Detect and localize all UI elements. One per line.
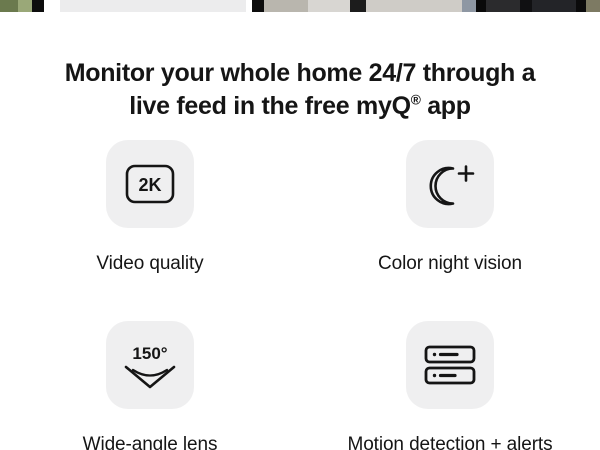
notification-bars-icon <box>423 343 477 387</box>
black-divider-4 <box>476 0 486 12</box>
dark-divider-3 <box>350 0 366 12</box>
white-gap <box>44 0 60 12</box>
feature-motion-detection-alerts: Motion detection + alerts <box>300 321 600 450</box>
dark-interior-photo <box>532 0 576 12</box>
resolution-2k-icon: 2K <box>124 163 176 205</box>
headline-line-2-suffix: app <box>421 92 471 120</box>
dark-slats-photo <box>486 0 520 12</box>
field-of-view-150-icon: 150° <box>121 339 179 391</box>
light-panel-photo <box>60 0 246 12</box>
pale-wall-photo <box>308 0 350 12</box>
feature-wide-angle-lens: 150° Wide-angle lens <box>0 321 300 450</box>
olive-photo <box>586 0 600 12</box>
promo-feature-panel: Monitor your whole home 24/7 through a l… <box>0 0 600 450</box>
feature-color-night-vision: Color night vision <box>300 140 600 277</box>
page-headline: Monitor your whole home 24/7 through a l… <box>0 57 600 123</box>
feature-icon-tile: 150° <box>106 321 194 409</box>
moon-plus-icon <box>423 160 477 208</box>
blue-gray-photo <box>462 0 476 12</box>
registered-trademark-symbol: ® <box>411 92 421 107</box>
headline-line-2-text: live feed in the free myQ <box>129 92 411 120</box>
feature-icon-tile: 2K <box>106 140 194 228</box>
foliage-photo-dark <box>18 0 32 12</box>
black-divider <box>32 0 44 12</box>
feature-grid: 2K Video quality Color night vision 150° <box>0 140 600 450</box>
textured-wall-photo <box>366 0 462 12</box>
feature-label-video-quality: Video quality <box>96 250 203 277</box>
feature-video-quality: 2K Video quality <box>0 140 300 277</box>
cropped-product-photo-strip <box>0 0 600 12</box>
black-divider-5 <box>520 0 532 12</box>
field-of-view-150-icon-label: 150° <box>132 344 167 363</box>
feature-icon-tile <box>406 140 494 228</box>
feature-icon-tile <box>406 321 494 409</box>
black-divider-6 <box>576 0 586 12</box>
headline-line-1: Monitor your whole home 24/7 through a <box>65 59 536 87</box>
stone-photo <box>264 0 308 12</box>
foliage-photo <box>0 0 18 12</box>
resolution-2k-icon-label: 2K <box>138 175 161 195</box>
feature-label-color-night-vision: Color night vision <box>378 250 522 277</box>
feature-label-motion-detection-alerts: Motion detection + alerts <box>347 431 552 450</box>
black-divider-2 <box>252 0 264 12</box>
feature-label-wide-angle-lens: Wide-angle lens <box>83 431 218 450</box>
